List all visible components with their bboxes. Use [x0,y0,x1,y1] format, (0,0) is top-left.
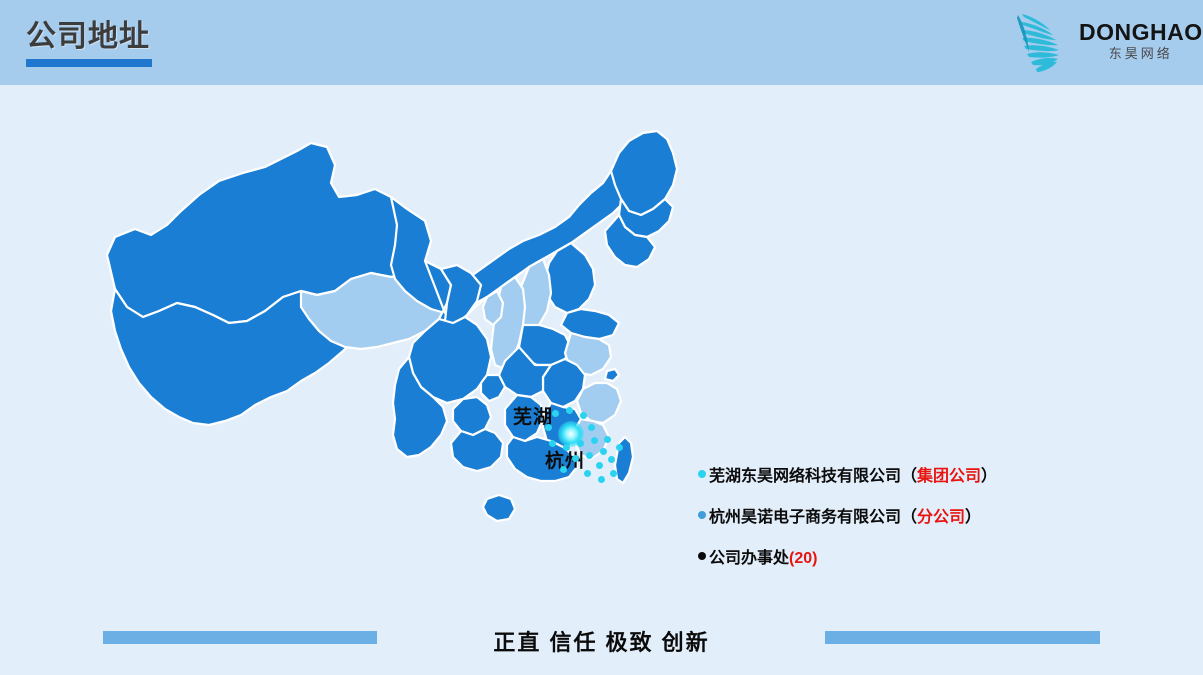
legend-item-label: 杭州昊诺电子商务有限公司 [709,503,901,527]
legend-bullet-icon [698,470,706,478]
logo-name: DONGHAO [1079,20,1203,45]
feather-fan-icon [1015,9,1077,73]
logo-subtitle: 东昊网络 [1079,45,1203,63]
logo-text-block: DONGHAO 东昊网络 [1079,20,1203,63]
page-title: 公司地址 [26,18,152,56]
legend-open-paren: （ [901,462,917,486]
page-title-block: 公司地址 [26,18,152,67]
legend-close-paren: ） [981,462,997,486]
legend: 芜湖东昊网络科技有限公司 （ 集团公司 ） 杭州昊诺电子商务有限公司 （ 分公司… [698,462,998,585]
brand-logo: DONGHAO 东昊网络 [1015,6,1187,76]
legend-bullet-icon [698,511,706,519]
legend-item-tag: 20 [794,550,812,568]
legend-close-paren: ) [812,550,817,568]
china-map-container [95,125,715,615]
legend-item-branch-company: 杭州昊诺电子商务有限公司 （ 分公司 ） [698,503,998,527]
legend-open-paren: （ [901,503,917,527]
legend-bullet-icon [698,552,706,560]
legend-item-group-company: 芜湖东昊网络科技有限公司 （ 集团公司 ） [698,462,998,486]
footer-bar-right [825,631,1100,644]
legend-item-label: 芜湖东昊网络科技有限公司 [709,462,901,486]
legend-item-tag: 分公司 [917,503,965,527]
china-map [95,125,715,615]
legend-item-tag: 集团公司 [917,462,981,486]
legend-item-label: 公司办事处 [709,544,789,568]
legend-item-offices: 公司办事处 ( 20 ) [698,544,998,568]
legend-close-paren: ） [965,503,981,527]
title-underline [26,59,152,67]
